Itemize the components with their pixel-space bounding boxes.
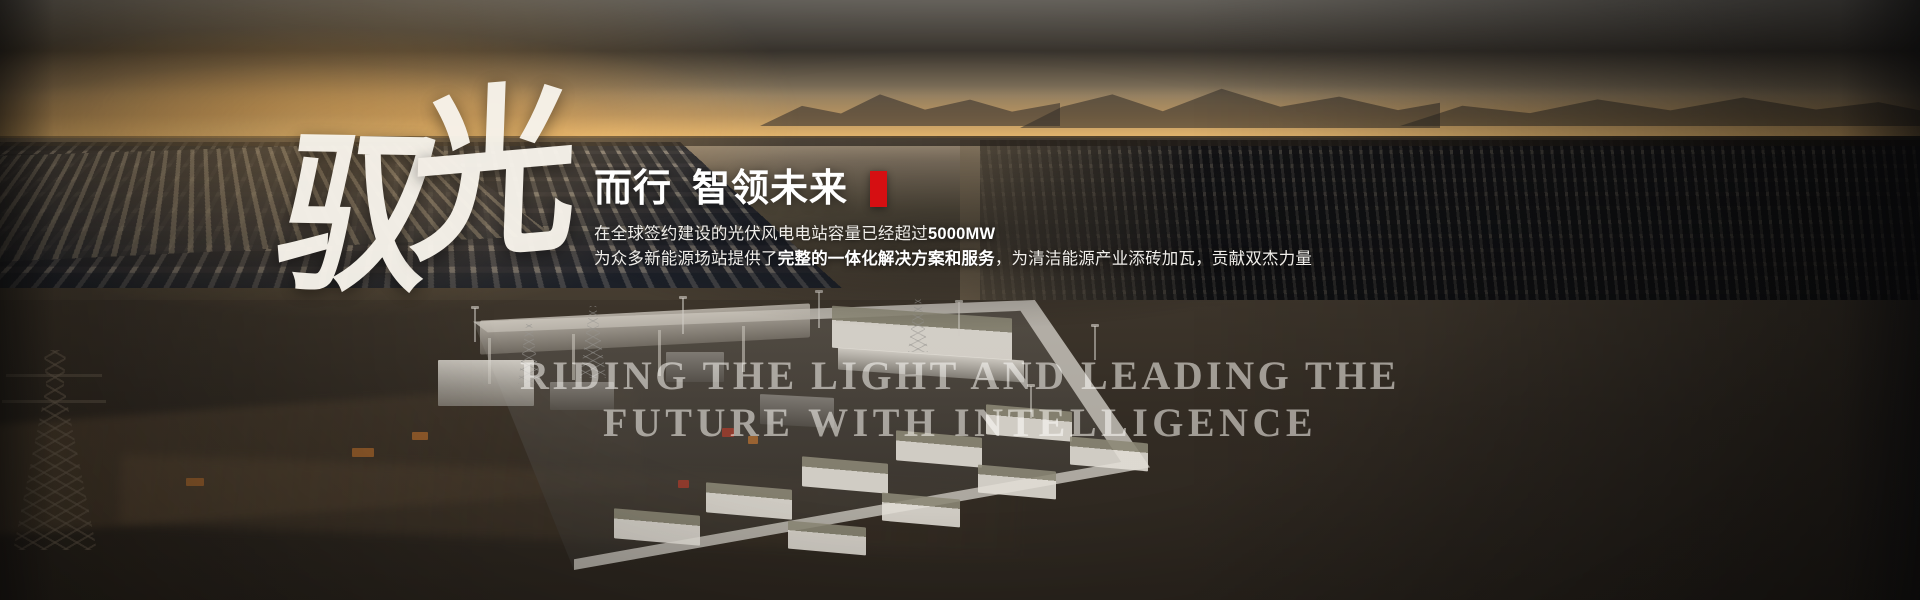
calligraphy-wordmark: 驭光 [278, 50, 605, 281]
copy-block: 而行 智领未来 在全球签约建设的光伏风电电站容量已经超过5000MW 为众多新能… [594, 166, 1494, 272]
headline: 而行 智领未来 [594, 166, 1494, 212]
subtitle-line-1: 在全球签约建设的光伏风电电站容量已经超过5000MW [594, 222, 1494, 247]
headline-part-1: 而行 [594, 166, 672, 212]
calligraphy-char-2: 光 [408, 79, 574, 275]
english-tagline-line-2: FUTURE WITH INTELLIGENCE [0, 399, 1920, 446]
right-edge-shade [1840, 0, 1920, 600]
subtitle-line-1-capacity: 5000MW [928, 225, 995, 243]
hero-banner: 驭光 而行 智领未来 在全球签约建设的光伏风电电站容量已经超过5000MW 为众… [0, 0, 1920, 600]
subtitle-line-2-suffix: ，为清洁能源产业添砖加瓦，贡献双杰力量 [995, 250, 1312, 268]
headline-part-2: 智领未来 [692, 166, 848, 212]
subtitle-line-2-highlight: 完整的一体化解决方案和服务 [778, 250, 995, 268]
left-edge-shade [0, 0, 54, 600]
english-tagline: RIDING THE LIGHT AND LEADING THE FUTURE … [0, 352, 1920, 446]
english-tagline-line-1: RIDING THE LIGHT AND LEADING THE [0, 352, 1920, 399]
red-accent-block [870, 171, 887, 207]
subtitle-line-2-prefix: 为众多新能源场站提供了 [594, 250, 778, 268]
subtitle-line-1-text: 在全球签约建设的光伏风电电站容量已经超过 [594, 225, 928, 243]
subtitle-line-2: 为众多新能源场站提供了完整的一体化解决方案和服务，为清洁能源产业添砖加瓦，贡献双… [594, 247, 1494, 272]
